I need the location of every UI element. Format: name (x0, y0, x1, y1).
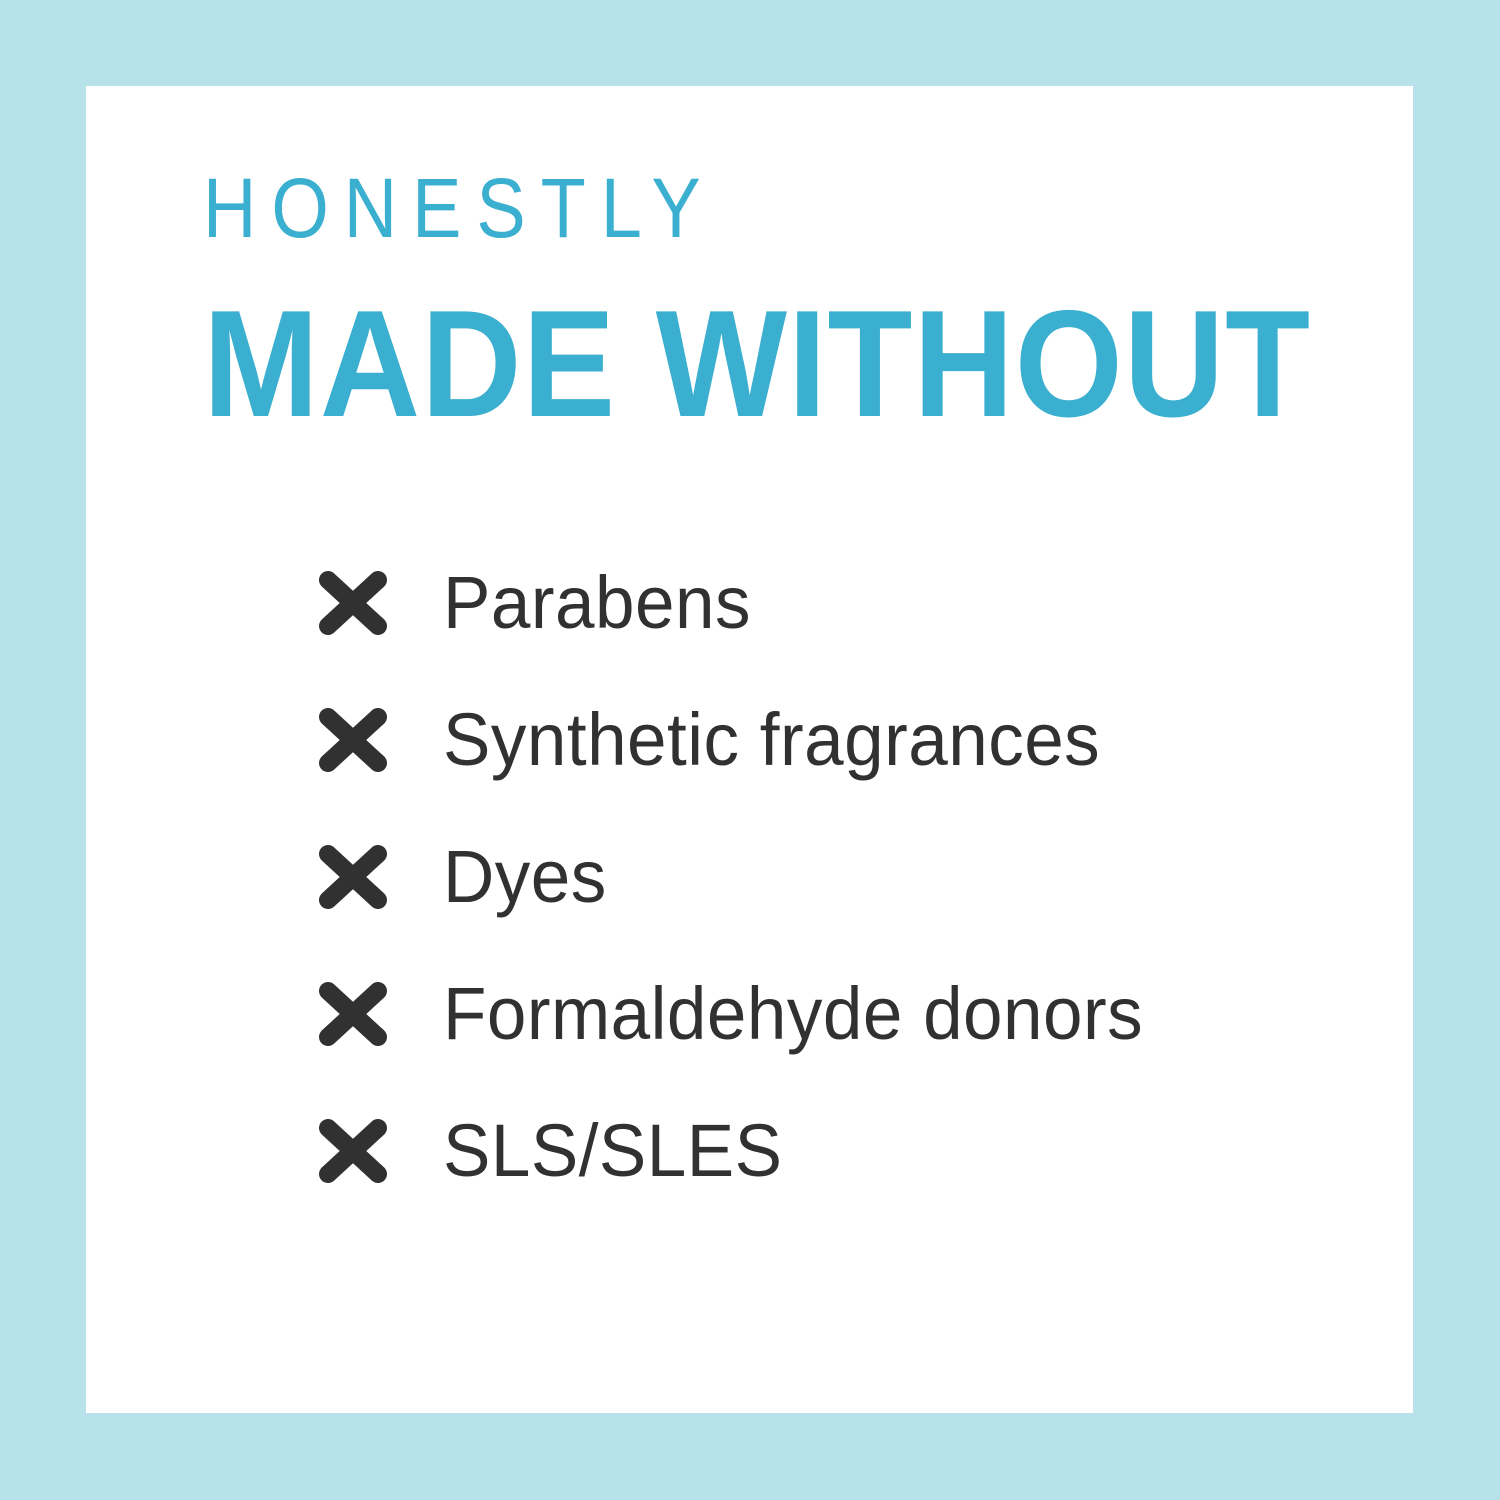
white-panel: HONESTLY MADE WITHOUT Parabens (86, 86, 1413, 1413)
list-item-label: Dyes (443, 840, 607, 914)
x-mark-icon (313, 700, 393, 780)
made-without-list: Parabens Synthetic fragrances (313, 534, 1172, 1219)
list-item: SLS/SLES (313, 1082, 1172, 1219)
list-item-label: SLS/SLES (443, 1114, 783, 1188)
list-item-label: Synthetic fragrances (443, 703, 1100, 777)
list-item: Dyes (313, 808, 1172, 945)
list-item: Formaldehyde donors (313, 945, 1172, 1082)
list-item: Synthetic fragrances (313, 671, 1172, 808)
list-item-label: Parabens (443, 566, 751, 640)
x-mark-icon (313, 1111, 393, 1191)
list-item: Parabens (313, 534, 1172, 671)
heading-block: HONESTLY MADE WITHOUT (203, 166, 1383, 440)
x-mark-icon (313, 837, 393, 917)
list-item-label: Formaldehyde donors (443, 977, 1143, 1051)
x-mark-icon (313, 563, 393, 643)
poster-canvas: HONESTLY MADE WITHOUT Parabens (0, 0, 1500, 1500)
x-mark-icon (313, 974, 393, 1054)
headline-text: MADE WITHOUT (203, 288, 1283, 440)
eyebrow-text: HONESTLY (203, 166, 1241, 250)
